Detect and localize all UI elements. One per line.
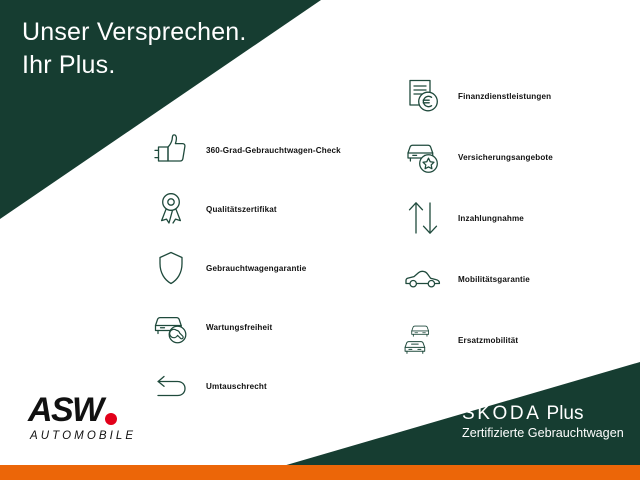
feature-label: Gebrauchtwagengarantie — [206, 264, 306, 273]
feature-label: Wartungsfreiheit — [206, 323, 272, 332]
dealer-logo-wordmark: ASW — [28, 393, 136, 427]
page-title: Unser Versprechen. Ihr Plus. — [22, 16, 247, 82]
feature-item-gebrauchtwagengarantie: Gebrauchtwagengarantie — [148, 242, 341, 294]
brand-logo-mark: SKODA — [462, 403, 542, 424]
feature-label: Qualitätszertifikat — [206, 205, 277, 214]
brand-logo: SKODAPlus Zertifizierte Gebrauchtwagen — [462, 404, 624, 440]
headline-line-2: Ihr Plus. — [22, 51, 116, 79]
feature-label: Mobilitätsgarantie — [458, 275, 530, 284]
document-euro-icon — [400, 73, 446, 119]
feature-list-right: Finanzdienstleistungen Versicherungsange… — [400, 70, 553, 375]
dealer-logo-dot — [105, 413, 117, 425]
feature-item-ersatzmobilitaet: Ersatzmobilität — [400, 314, 553, 366]
brand-logo-tagline: Zertifizierte Gebrauchtwagen — [462, 426, 624, 440]
car-side-icon — [400, 256, 446, 302]
promo-banner: Unser Versprechen. Ihr Plus. 360-Grad-Ge… — [0, 0, 640, 480]
car-wrench-icon — [148, 304, 194, 350]
feature-item-mobilitaetsgarantie: Mobilitätsgarantie — [400, 253, 553, 305]
feature-item-versicherungsangebote: Versicherungsangebote — [400, 131, 553, 183]
up-down-arrows-icon — [400, 195, 446, 241]
feature-item-wartungsfreiheit: Wartungsfreiheit — [148, 301, 341, 353]
dealer-logo-subtitle: AUTOMOBILE — [30, 430, 136, 442]
car-star-icon — [400, 134, 446, 180]
two-cars-icon — [400, 317, 446, 363]
quality-rosette-icon — [148, 186, 194, 232]
feature-item-qualitaetszertifikat: Qualitätszertifikat — [148, 183, 341, 235]
return-arrow-icon — [148, 363, 194, 409]
brand-logo-plus: Plus — [547, 403, 584, 424]
orange-footer-bar — [0, 465, 640, 480]
brand-logo-line-1: SKODAPlus — [462, 404, 624, 424]
feature-label: Versicherungsangebote — [458, 153, 553, 162]
thumbs-up-icon — [148, 127, 194, 173]
feature-item-umtauschrecht: Umtauschrecht — [148, 360, 341, 412]
shield-icon — [148, 245, 194, 291]
feature-label: Ersatzmobilität — [458, 336, 518, 345]
feature-list-left: 360-Grad-Gebrauchtwagen-Check Qualitätsz… — [148, 124, 341, 419]
dealer-logo: ASW AUTOMOBILE — [28, 393, 136, 442]
feature-label: Finanzdienstleistungen — [458, 92, 551, 101]
feature-label: Umtauschrecht — [206, 382, 267, 391]
feature-label: Inzahlungnahme — [458, 214, 524, 223]
feature-item-inzahlungnahme: Inzahlungnahme — [400, 192, 553, 244]
feature-label: 360-Grad-Gebrauchtwagen-Check — [206, 146, 341, 155]
headline-line-1: Unser Versprechen. — [22, 18, 247, 46]
feature-item-gebrauchtwagen-check: 360-Grad-Gebrauchtwagen-Check — [148, 124, 341, 176]
feature-item-finanzdienstleistungen: Finanzdienstleistungen — [400, 70, 553, 122]
dealer-logo-text: ASW — [28, 393, 103, 427]
